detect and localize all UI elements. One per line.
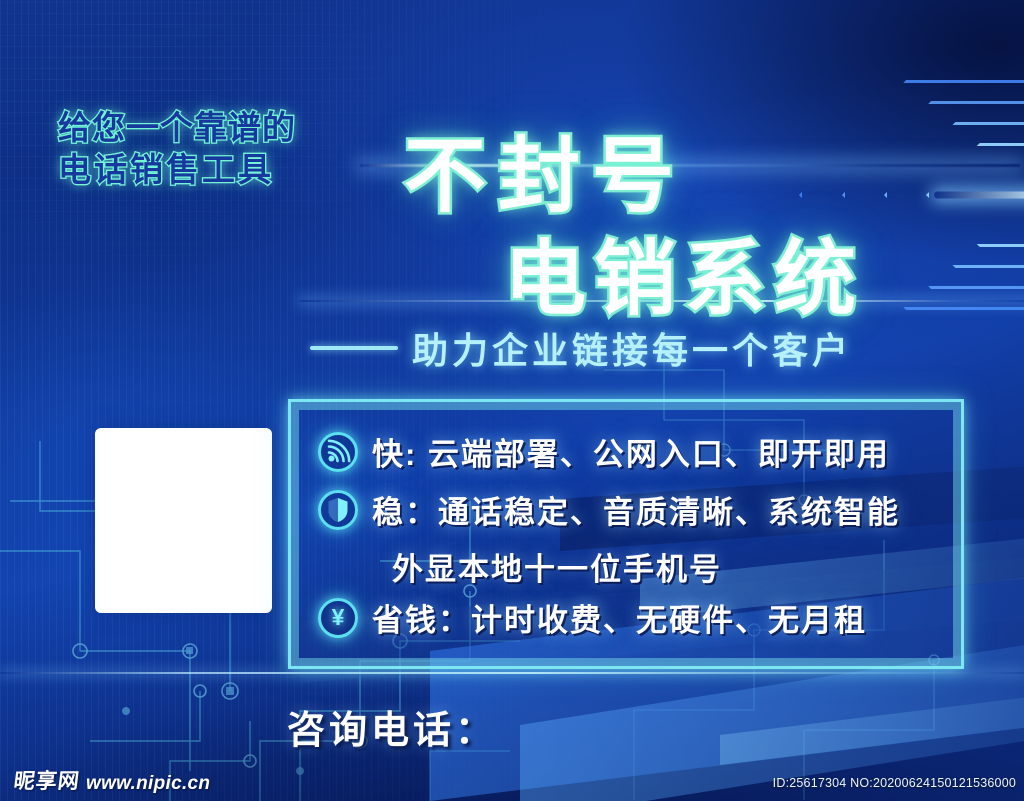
feature-subtext-row: 外显本地十一位手机号 xyxy=(392,544,722,589)
image-id-number: ID:25617304 NO:20200624150121536000 xyxy=(773,776,1016,790)
poster-canvas: 给您一个靠谱的 电话销售工具 不封号 电销系统 助力企业链接每一个客户 快: 云… xyxy=(0,0,1024,801)
tagline: 助力企业链接每一个客户 xyxy=(310,322,852,374)
kicker-text: 给您一个靠谱的 电话销售工具 xyxy=(58,107,296,191)
watermark-logo: 昵享网 www.nipic.cn xyxy=(14,765,210,795)
feature-row-savings: ¥ 省钱：计时收费、无硬件、无月租 xyxy=(318,595,867,640)
chevron-core-glow xyxy=(934,192,1024,199)
footer-watermark-bar: 昵享网 www.nipic.cn ID:25617304 NO:20200624… xyxy=(0,760,1024,801)
feature-subtext-stable: 外显本地十一位手机号 xyxy=(392,552,722,587)
light-streak-bottom xyxy=(0,672,1024,674)
wifi-signal-icon xyxy=(318,432,358,472)
qr-code-placeholder[interactable] xyxy=(95,428,272,613)
feature-list: 快: 云端部署、公网入口、即开即用 稳：通话稳定、音质清晰、系统智能 外显本地十… xyxy=(288,399,964,669)
yen-currency-icon: ¥ xyxy=(318,598,358,638)
shield-icon xyxy=(318,490,358,530)
tagline-dash-icon xyxy=(310,346,398,350)
feature-text-stable: 稳：通话稳定、音质清晰、系统智能 xyxy=(372,487,900,532)
feature-text-fast: 快: 云端部署、公网入口、即开即用 xyxy=(372,429,890,474)
contact-label: 咨询电话： xyxy=(287,699,497,754)
feature-row-stable: 稳：通话稳定、音质清晰、系统智能 xyxy=(318,487,900,532)
page-title-line-2: 电销系统 xyxy=(504,212,864,331)
watermark-site-name: 昵享网 xyxy=(12,765,82,795)
kicker-line-2: 电话销售工具 xyxy=(58,149,296,191)
tagline-text: 助力企业链接每一个客户 xyxy=(412,322,852,374)
feature-row-fast: 快: 云端部署、公网入口、即开即用 xyxy=(318,429,890,474)
feature-text-savings: 省钱：计时收费、无硬件、无月租 xyxy=(372,595,867,640)
kicker-line-1: 给您一个靠谱的 xyxy=(58,109,296,146)
page-title-line-1: 不封号 xyxy=(404,109,686,228)
yen-glyph: ¥ xyxy=(332,606,345,629)
watermark-site-url: www.nipic.cn xyxy=(86,773,210,795)
